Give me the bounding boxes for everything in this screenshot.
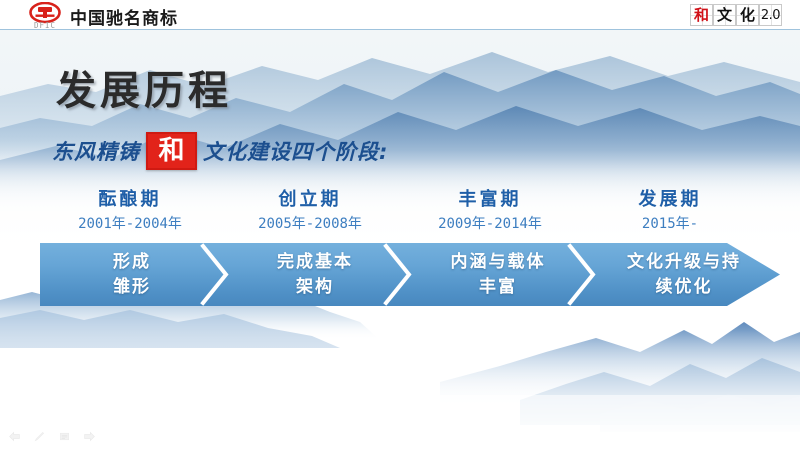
stage-heading-1: 酝酿期 2001年-2004年 [40,185,220,233]
back-arrow-icon[interactable] [8,430,21,443]
svg-text:DFIC: DFIC [34,21,56,29]
process-chevron-banner: 形成 雏形 完成基本 架构 内涵与载体 丰富 文化升级与持 [40,243,780,306]
seal-cell-version: 2.0 [759,4,782,26]
segment-label-line1: 形成 [113,250,151,275]
document-icon[interactable] [58,430,71,443]
banner-segment-3[interactable]: 内涵与载体 丰富 [410,243,586,306]
brand-title: 中国驰名商标 [70,4,178,29]
he-culture-seal-logo: 和 文 化 2.0 [690,4,782,26]
stage-years: 2015年- [580,213,760,233]
page-title: 发展历程 [56,58,232,116]
forward-arrow-icon[interactable] [83,430,96,443]
dfic-oval-logo-icon: DFIC [22,2,68,29]
top-header-bar: DFIC 中国驰名商标 和 文 化 2.0 [0,0,800,30]
subtitle-lead: 东风精铸 [52,136,140,166]
segment-label-line2: 架构 [296,275,334,300]
stage-heading-3: 丰富期 2009年-2014年 [400,185,580,233]
stage-years: 2009年-2014年 [400,213,580,233]
stage-heading-4: 发展期 2015年- [580,185,760,233]
slide-canvas: DFIC 中国驰名商标 和 文 化 2.0 发展历程 东风精铸 和 文化建设四个… [0,0,800,451]
segment-label-line2: 丰富 [479,275,517,300]
segment-label-line2: 续优化 [656,275,713,300]
banner-segment-4[interactable]: 文化升级与持 续优化 [594,243,774,306]
banner-segment-1[interactable]: 形成 雏形 [46,243,218,306]
segment-label-line1: 文化升级与持 [627,250,741,275]
seal-cell-hua: 化 [736,4,759,26]
segment-label-line1: 完成基本 [277,250,353,275]
seal-cell-he: 和 [690,4,713,26]
he-seal-stamp: 和 [146,132,197,170]
segment-label-line2: 雏形 [113,275,151,300]
subtitle-tail: 文化建设四个阶段: [203,136,388,166]
subtitle-line: 东风精铸 和 文化建设四个阶段: [52,132,388,170]
stage-name: 创立期 [220,185,400,211]
stage-name: 酝酿期 [40,185,220,211]
pen-icon[interactable] [33,430,46,443]
segment-label-line1: 内涵与载体 [451,250,546,275]
stage-headings: 酝酿期 2001年-2004年 创立期 2005年-2008年 丰富期 2009… [40,185,780,237]
bottom-toolbar [8,430,96,443]
stage-name: 发展期 [580,185,760,211]
stage-years: 2001年-2004年 [40,213,220,233]
stage-heading-2: 创立期 2005年-2008年 [220,185,400,233]
banner-segment-2[interactable]: 完成基本 架构 [230,243,400,306]
seal-cell-wen: 文 [713,4,736,26]
stage-years: 2005年-2008年 [220,213,400,233]
stage-name: 丰富期 [400,185,580,211]
